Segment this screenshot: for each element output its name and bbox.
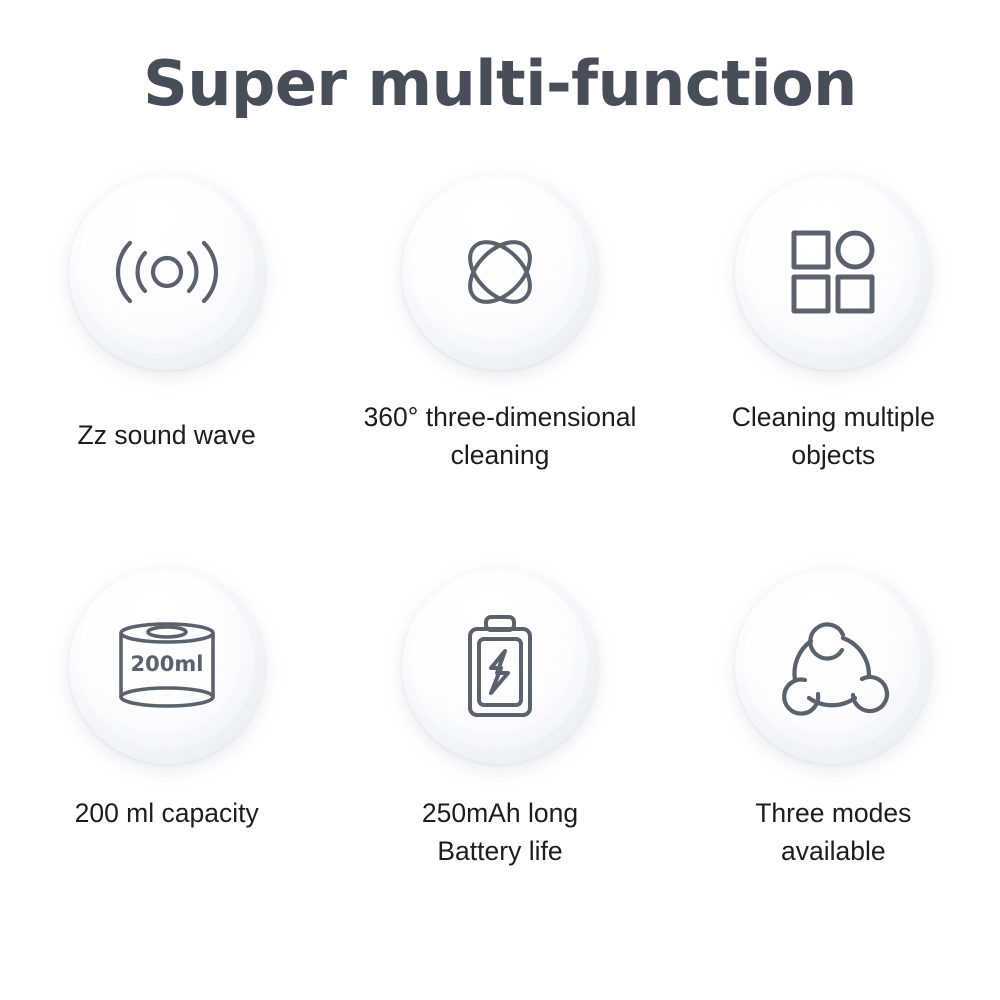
feature-icon-disc: 200ml xyxy=(69,568,265,764)
sound-wave-icon xyxy=(69,174,265,370)
feature-item-multiple-objects: Cleaning multiple objects xyxy=(667,160,1000,550)
feature-caption: 200 ml capacity xyxy=(22,794,312,832)
feature-item-capacity: 200ml 200 ml capacity xyxy=(0,550,333,940)
feature-item-battery: 250mAh long Battery life xyxy=(333,550,666,940)
feature-icon-disc xyxy=(69,174,265,370)
tank-capacity-label: 200ml xyxy=(130,652,203,676)
tank-capacity-icon: 200ml xyxy=(69,568,265,764)
feature-item-three-modes: Three modes available xyxy=(667,550,1000,940)
three-modes-cycle-icon xyxy=(735,568,931,764)
battery-bolt-icon xyxy=(402,568,598,764)
product-feature-infographic: Super multi-function Zz xyxy=(0,0,1000,1000)
orbit-crossed-ellipses-icon xyxy=(402,174,598,370)
feature-icon-disc xyxy=(735,174,931,370)
feature-caption: Three modes available xyxy=(688,794,978,870)
feature-grid: Zz sound wave 360° three-dimensional cle… xyxy=(0,160,1000,940)
feature-icon-disc xyxy=(735,568,931,764)
feature-icon-disc xyxy=(402,568,598,764)
feature-caption: Cleaning multiple objects xyxy=(688,398,978,474)
grid-squares-circle-icon xyxy=(735,174,931,370)
feature-item-360-cleaning: 360° three-dimensional cleaning xyxy=(333,160,666,550)
feature-item-sound-wave: Zz sound wave xyxy=(0,160,333,550)
feature-icon-disc xyxy=(402,174,598,370)
page-title: Super multi-function xyxy=(0,48,1000,120)
feature-caption: 250mAh long Battery life xyxy=(355,794,645,870)
feature-caption: 360° three-dimensional cleaning xyxy=(355,398,645,474)
feature-caption: Zz sound wave xyxy=(22,416,312,454)
